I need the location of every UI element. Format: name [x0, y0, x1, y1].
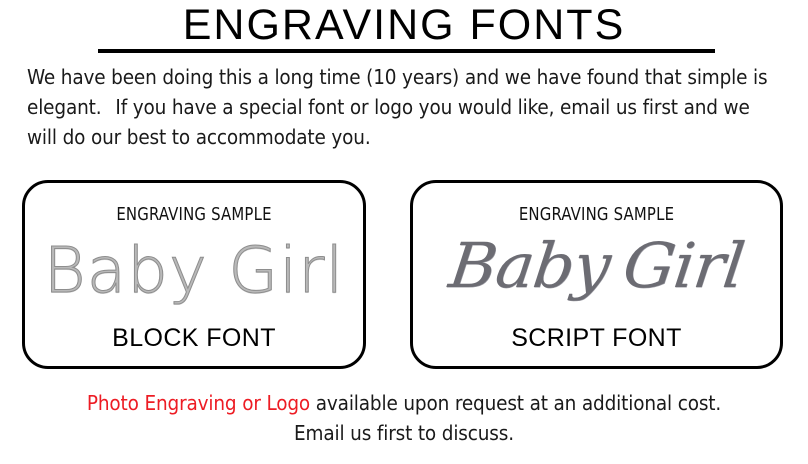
footer-note: Photo Engraving or Logo available upon r… — [0, 388, 808, 448]
sample-caption-bottom: SCRIPT FONT — [413, 324, 780, 352]
sample-word-second: Girl — [619, 229, 747, 302]
sample-card-script-font: ENGRAVING SAMPLE BabyGirl SCRIPT FONT — [410, 180, 783, 369]
intro-paragraph: We have been doing this a long time (10 … — [27, 62, 783, 152]
sample-word-script-font: BabyGirl — [410, 227, 783, 305]
sample-card-block-font: ENGRAVING SAMPLE BabyGirl BLOCK FONT — [22, 180, 366, 369]
sample-word-block-font: BabyGirl — [22, 235, 366, 307]
intro-line-2b: If you have a special font or logo you w… — [115, 95, 636, 119]
intro-line-1: We have been doing this a long time (10 … — [27, 65, 682, 89]
page-title-block: ENGRAVING FONTS — [0, 2, 808, 48]
title-underline-rule — [98, 49, 715, 53]
footer-rest: available upon request at an additional … — [310, 391, 721, 415]
sample-caption-top: ENGRAVING SAMPLE — [428, 205, 766, 225]
engraving-fonts-page: ENGRAVING FONTS We have been doing this … — [0, 0, 808, 464]
footer-highlight: Photo Engraving or Logo — [87, 391, 310, 415]
sample-caption-top: ENGRAVING SAMPLE — [39, 205, 350, 225]
footer-line-2: Email us first to discuss. — [0, 418, 808, 448]
sample-word-first: Baby — [445, 229, 613, 302]
page-title: ENGRAVING FONTS — [0, 2, 808, 48]
footer-line-1: Photo Engraving or Logo available upon r… — [0, 388, 808, 418]
sample-word-first: Baby — [44, 234, 208, 307]
sample-caption-bottom: BLOCK FONT — [25, 324, 363, 352]
sample-word-second: Girl — [228, 234, 344, 307]
